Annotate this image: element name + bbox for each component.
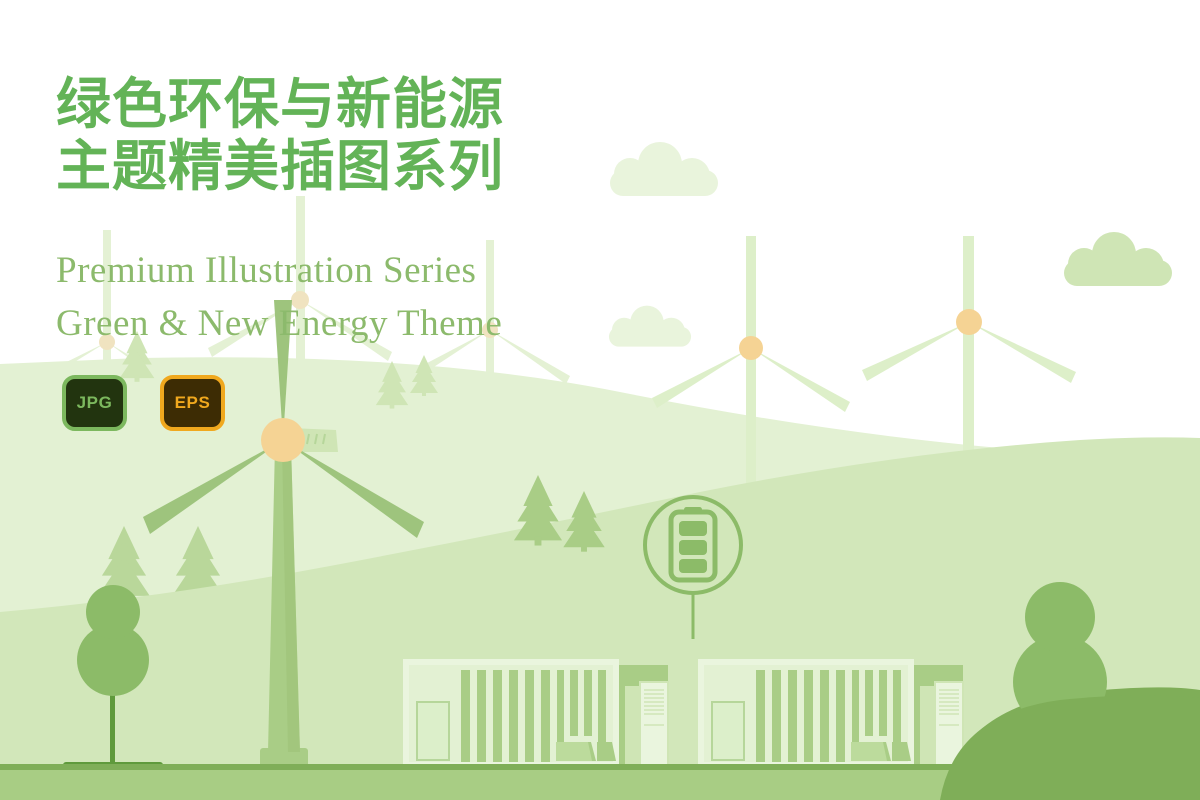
format-badge-jpg[interactable]: JPG [62, 375, 127, 431]
tree-right-canopy-upper [1025, 582, 1095, 652]
format-badge-eps[interactable]: EPS [160, 375, 225, 431]
building-left-solar-panels [556, 742, 616, 761]
subtitle-line-1: Premium Illustration Series [56, 245, 502, 298]
title-line-2: 主题精美插图系列 [56, 136, 504, 198]
tree-left-canopy-upper [86, 585, 140, 639]
page-subtitle: Premium Illustration Series Green & New … [56, 245, 502, 350]
building-right [698, 659, 963, 768]
subtitle-line-2: Green & New Energy Theme [56, 298, 502, 351]
illustration-canvas: 绿色环保与新能源 主题精美插图系列 Premium Illustration S… [0, 0, 1200, 800]
page-title: 绿色环保与新能源 主题精美插图系列 [56, 74, 504, 197]
title-line-1: 绿色环保与新能源 [56, 74, 504, 136]
building-right-door [712, 702, 744, 760]
turbine-main-hub [261, 418, 305, 462]
building-right-solar-panels [851, 742, 911, 761]
tree-left-trunk [110, 690, 115, 768]
building-left [403, 659, 668, 768]
building-left-door [417, 702, 449, 760]
format-badge-group: JPG EPS [62, 375, 225, 431]
